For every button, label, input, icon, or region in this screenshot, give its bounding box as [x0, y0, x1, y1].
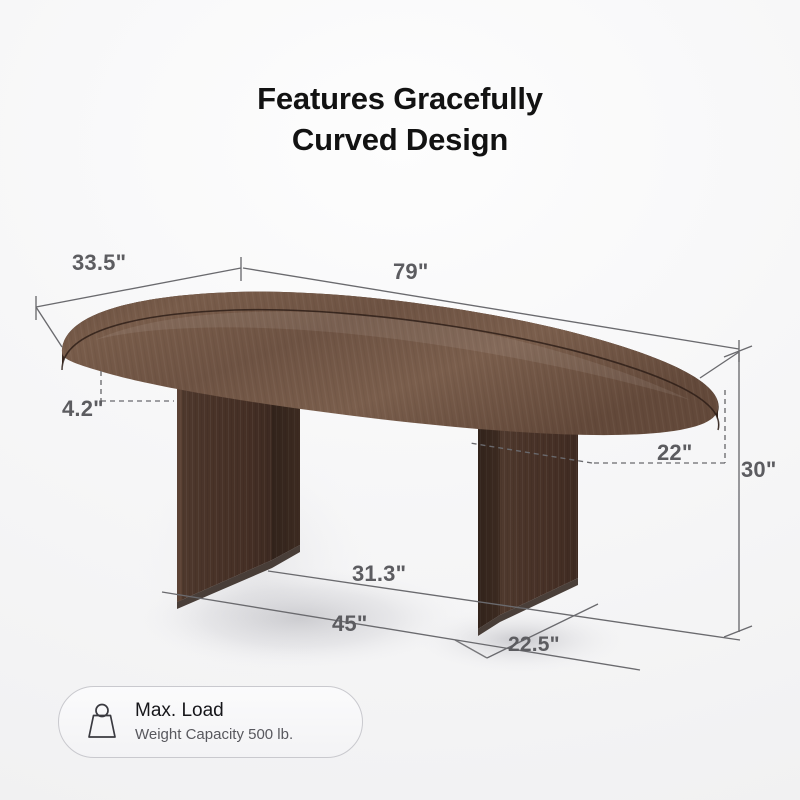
dimension-label-30: 30" — [741, 457, 777, 483]
badge-text: Max. Load Weight Capacity 500 lb. — [135, 699, 293, 745]
table-illustration — [0, 0, 800, 800]
product-dimension-diagram: Features Gracefully Curved Design — [0, 0, 800, 800]
dimension-label-22: 22" — [657, 440, 693, 466]
dimension-label-45: 45" — [332, 611, 368, 637]
dimension-label-31-3: 31.3" — [352, 561, 406, 587]
max-load-badge: Max. Load Weight Capacity 500 lb. — [58, 686, 363, 758]
badge-subtitle: Weight Capacity 500 lb. — [135, 725, 293, 745]
table-leg-right — [478, 400, 578, 636]
dimension-label-79: 79" — [393, 259, 429, 285]
dimension-label-22-5: 22.5" — [508, 633, 560, 657]
dimension-label-33-5: 33.5" — [72, 250, 126, 276]
weight-icon — [79, 699, 125, 745]
badge-title: Max. Load — [135, 699, 293, 723]
dimension-corner-right — [700, 352, 739, 378]
table-top — [62, 292, 719, 435]
dimension-label-4-2: 4.2" — [62, 396, 104, 422]
dimension-guide-right — [724, 346, 752, 637]
